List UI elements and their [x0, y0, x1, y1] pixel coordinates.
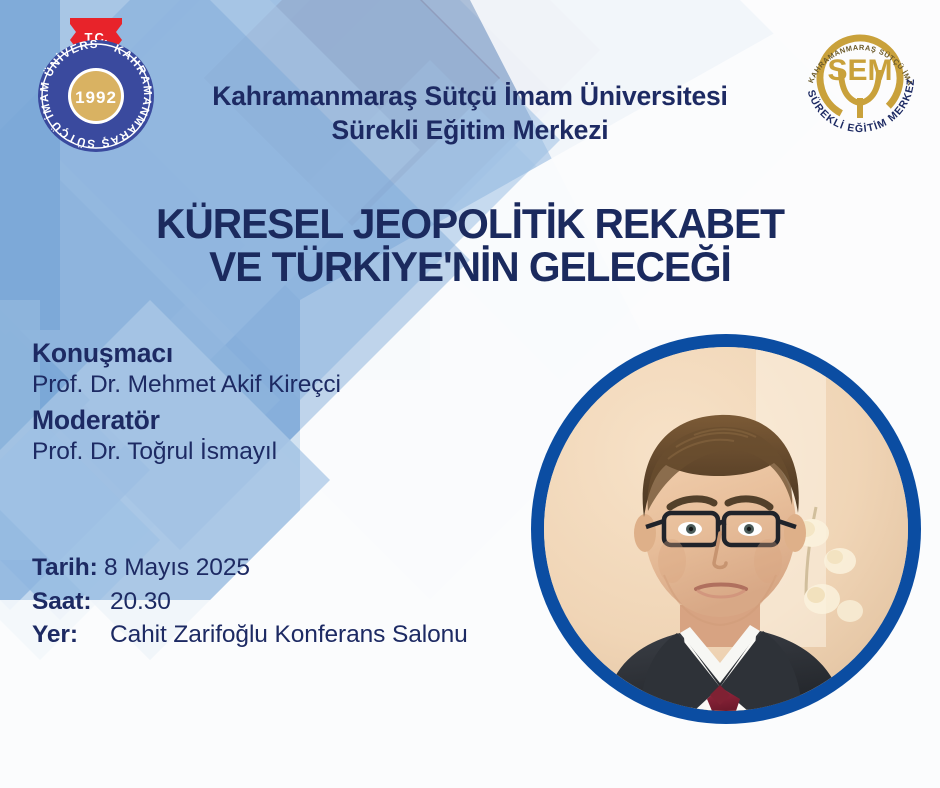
date-label: Tarih:	[32, 551, 104, 585]
event-title-line-1: KÜRESEL JEOPOLİTİK REKABET	[72, 202, 867, 245]
detail-row-place: Yer: Cahit Zarifoğlu Konferans Salonu	[32, 618, 552, 652]
speaker-role-label: Konuşmacı	[32, 338, 502, 369]
speaker-portrait-photo	[544, 347, 908, 711]
svg-text:1992: 1992	[75, 88, 117, 107]
date-value: 8 Mayıs 2025	[104, 551, 250, 585]
sem-logo-icon: SEM KAHRAMANMARAŞ SÜTÇÜ İMAM ÜNİVERSİTES…	[790, 8, 930, 148]
time-label: Saat:	[32, 585, 110, 619]
participants-block: Konuşmacı Prof. Dr. Mehmet Akif Kireçci …	[32, 338, 502, 471]
place-label: Yer:	[32, 618, 110, 652]
event-title: KÜRESEL JEOPOLİTİK REKABET VE TÜRKİYE'Nİ…	[60, 202, 880, 289]
organization-header: Kahramanmaraş Sütçü İmam Üniversitesi Sü…	[150, 80, 790, 148]
speaker-portrait-frame	[531, 334, 921, 724]
time-value: 20.30	[110, 585, 171, 619]
event-poster: T.C. KAHRAMANMARAŞ SÜTÇÜ İMAM ÜNİVERSİTE…	[0, 0, 940, 788]
detail-row-time: Saat: 20.30	[32, 585, 552, 619]
organization-line-1: Kahramanmaraş Sütçü İmam Üniversitesi	[150, 80, 790, 114]
organization-line-2: Sürekli Eğitim Merkezi	[150, 114, 790, 148]
detail-row-date: Tarih: 8 Mayıs 2025	[32, 551, 552, 585]
place-value: Cahit Zarifoğlu Konferans Salonu	[110, 618, 468, 652]
event-details-block: Tarih: 8 Mayıs 2025 Saat: 20.30 Yer: Cah…	[32, 551, 552, 652]
svg-text:SEM: SEM	[827, 54, 892, 87]
moderator-role-label: Moderatör	[32, 405, 502, 436]
event-title-line-2: VE TÜRKİYE'NİN GELECEĞİ	[72, 245, 867, 288]
speaker-name: Prof. Dr. Mehmet Akif Kireçci	[32, 369, 502, 400]
moderator-name: Prof. Dr. Toğrul İsmayıl	[32, 436, 502, 467]
university-seal-icon: T.C. KAHRAMANMARAŞ SÜTÇÜ İMAM ÜNİVERSİTE…	[30, 14, 162, 158]
